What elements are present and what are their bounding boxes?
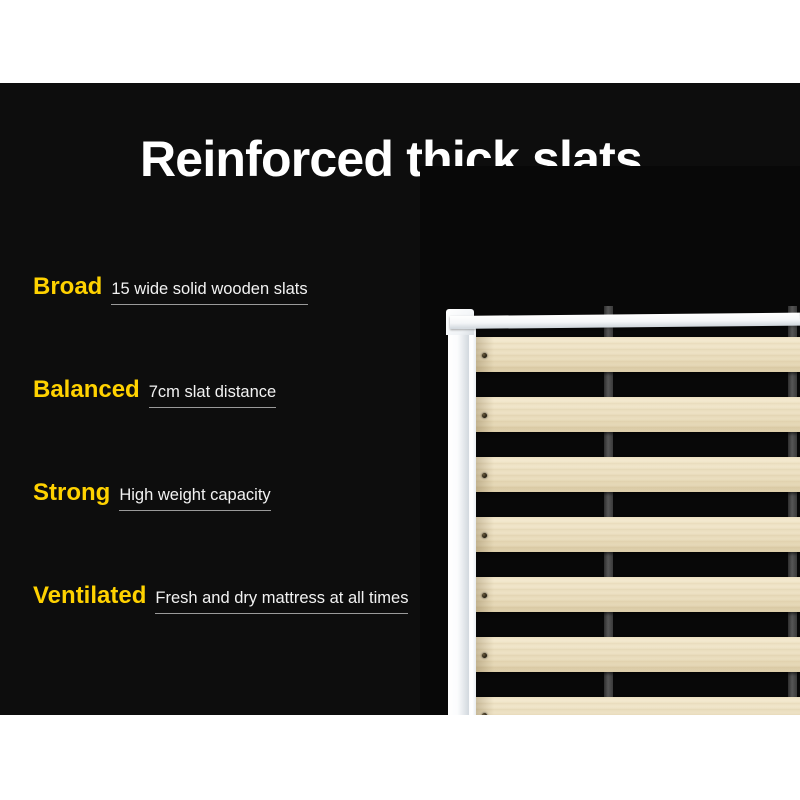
wooden-slat bbox=[468, 337, 800, 372]
feature-row-strong: Strong High weight capacity bbox=[33, 479, 453, 582]
wooden-slat bbox=[468, 637, 800, 672]
wooden-slat bbox=[468, 697, 800, 715]
product-photo bbox=[420, 166, 800, 715]
feature-description: Fresh and dry mattress at all times bbox=[155, 589, 408, 614]
feature-description: High weight capacity bbox=[119, 486, 270, 511]
slat-screw bbox=[482, 533, 487, 538]
feature-description: 7cm slat distance bbox=[149, 383, 276, 408]
feature-row-balanced: Balanced 7cm slat distance bbox=[33, 376, 453, 479]
feature-term: Balanced bbox=[33, 376, 140, 404]
wooden-slat bbox=[468, 577, 800, 612]
feature-list: Broad 15 wide solid wooden slats Balance… bbox=[33, 273, 453, 685]
feature-term: Ventilated bbox=[33, 582, 146, 610]
slat-screw bbox=[482, 653, 487, 658]
slat-screw bbox=[482, 713, 487, 715]
feature-term: Broad bbox=[33, 273, 102, 301]
wooden-slat bbox=[468, 517, 800, 552]
feature-panel: Reinforced thick slats Broad 15 wide sol… bbox=[0, 83, 800, 715]
wooden-slat bbox=[468, 457, 800, 492]
slat-screw bbox=[482, 413, 487, 418]
feature-description: 15 wide solid wooden slats bbox=[111, 280, 307, 305]
bed-frame-corner-post bbox=[448, 311, 469, 715]
slat-screw bbox=[482, 353, 487, 358]
feature-row-ventilated: Ventilated Fresh and dry mattress at all… bbox=[33, 582, 453, 685]
product-feature-poster: Reinforced thick slats Broad 15 wide sol… bbox=[0, 0, 800, 800]
feature-row-broad: Broad 15 wide solid wooden slats bbox=[33, 273, 453, 376]
slat-screw bbox=[482, 593, 487, 598]
slat-screw bbox=[482, 473, 487, 478]
wooden-slat bbox=[468, 397, 800, 432]
feature-term: Strong bbox=[33, 479, 110, 507]
